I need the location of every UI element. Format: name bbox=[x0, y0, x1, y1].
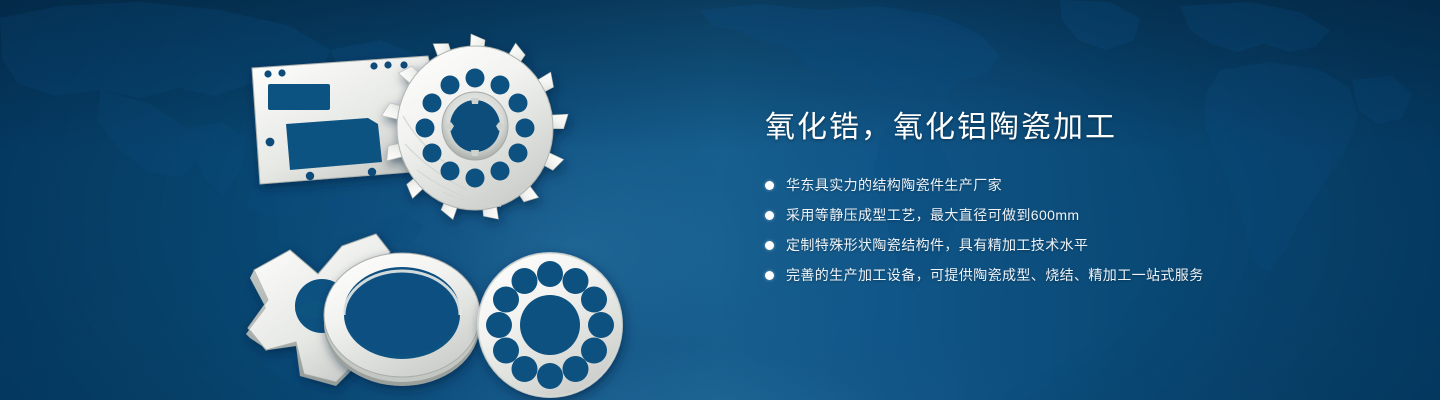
feature-text: 采用等静压成型工艺，最大直径可做到600mm bbox=[786, 204, 1079, 226]
list-item: 华东具实力的结构陶瓷件生产厂家 bbox=[765, 174, 1365, 196]
feature-list: 华东具实力的结构陶瓷件生产厂家 采用等静压成型工艺，最大直径可做到600mm 定… bbox=[765, 174, 1365, 286]
list-item: 定制特殊形状陶瓷结构件，具有精加工技术水平 bbox=[765, 234, 1365, 256]
feature-text: 华东具实力的结构陶瓷件生产厂家 bbox=[786, 174, 1002, 196]
banner-copy: 氧化锆，氧化铝陶瓷加工 华东具实力的结构陶瓷件生产厂家 采用等静压成型工艺，最大… bbox=[765, 108, 1365, 294]
list-item: 完善的生产加工设备，可提供陶瓷成型、烧结、精加工一站式服务 bbox=[765, 264, 1365, 286]
bullet-dot-icon bbox=[765, 241, 774, 250]
list-item: 采用等静压成型工艺，最大直径可做到600mm bbox=[765, 204, 1365, 226]
ceramic-perforated-disc bbox=[478, 253, 622, 397]
hero-banner: 氧化锆，氧化铝陶瓷加工 华东具实力的结构陶瓷件生产厂家 采用等静压成型工艺，最大… bbox=[0, 0, 1440, 400]
feature-text: 完善的生产加工设备，可提供陶瓷成型、烧结、精加工一站式服务 bbox=[786, 264, 1204, 286]
bullet-dot-icon bbox=[765, 271, 774, 280]
bullet-dot-icon bbox=[765, 211, 774, 220]
bullet-dot-icon bbox=[765, 181, 774, 190]
feature-text: 定制特殊形状陶瓷结构件，具有精加工技术水平 bbox=[786, 234, 1088, 256]
ceramic-ring bbox=[324, 253, 480, 386]
banner-headline: 氧化锆，氧化铝陶瓷加工 bbox=[765, 108, 1365, 148]
product-photo-group bbox=[230, 38, 710, 388]
